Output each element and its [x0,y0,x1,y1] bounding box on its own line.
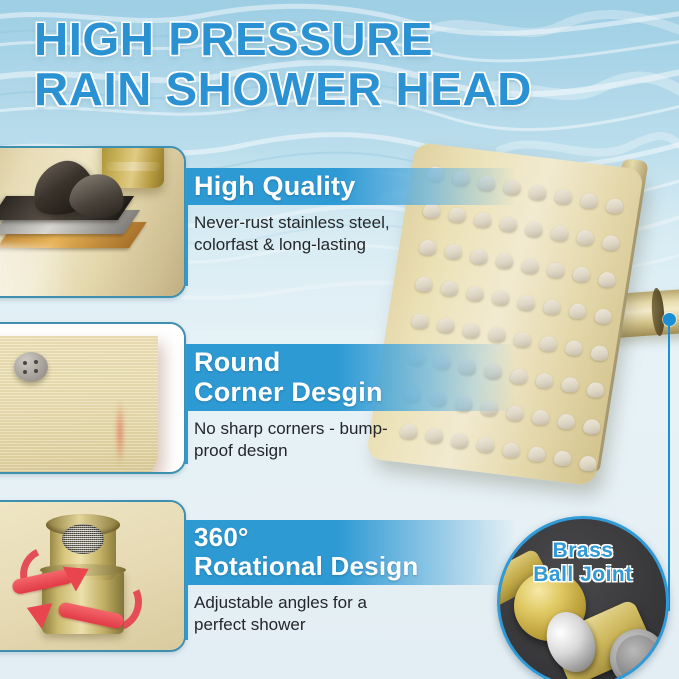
feature-title-bar: Round Corner Desgin [186,344,516,411]
nozzle-jet [582,418,601,435]
callout-leader-line-vertical [668,323,670,611]
nozzle-jet [411,313,430,330]
nozzle-jet [605,197,624,214]
nozzle-jet [513,331,532,348]
nozzle-jet [543,299,562,316]
callout-label: Brass Ball Joint [500,539,666,587]
nozzle-jet [466,285,485,302]
feature-block-high-quality: High Quality Never-rust stainless steel,… [186,168,516,256]
nozzle-jet [554,188,573,205]
nozzle-hole [23,361,27,365]
nozzle-jet [601,234,620,251]
filter-mesh [62,524,104,554]
corner-highlight-glow [114,384,174,474]
feature-description: Adjustable angles for a perfect shower [186,592,516,636]
feature-description: No sharp corners - bump- proof design [186,418,516,462]
nozzle-jet [531,409,550,426]
nozzle-jet [580,193,599,210]
nozzle-jet [517,294,536,311]
feature-title: High Quality [194,171,510,201]
feature-thumbnail-rotational [0,500,186,652]
feature-title: 360° Rotational Design [194,523,510,581]
nozzle-jet [550,225,569,242]
nozzle-jet [521,257,540,274]
nozzle-hole [34,369,38,373]
nozzle-jet [440,281,459,298]
feature-thumbnail-high-quality [0,146,186,298]
nozzle-jet [553,450,572,467]
feature-title-bar: High Quality [186,168,516,205]
page-title: HIGH PRESSURE RAIN SHOWER HEAD [34,14,673,114]
chrome-disc-secondary [610,629,666,679]
feature-block-round-corner: Round Corner Desgin No sharp corners - b… [186,344,516,462]
feature-description: Never-rust stainless steel, colorfast & … [186,212,516,256]
nozzle-jet [491,290,510,307]
nozzle-hole [34,360,38,364]
nozzle-jet [525,221,544,238]
nozzle-jet [436,317,455,334]
nozzle-jet [488,326,507,343]
nozzle-jet [590,345,609,362]
rounded-corner-photo [0,324,184,472]
ball-joint-rotation-photo [0,502,184,650]
feature-block-rotational: 360° Rotational Design Adjustable angles… [186,520,516,636]
nozzle-jet [535,372,554,389]
nozzle-jet [586,381,605,398]
nozzle-jet [576,230,595,247]
nozzle-jet [546,262,565,279]
nozzle-jet [528,184,547,201]
nozzle-jet [572,267,591,284]
nozzle-jet [462,322,481,339]
feature-title-bar: 360° Rotational Design [186,520,516,585]
nozzle-jet [568,303,587,320]
nozzle-jet [594,308,613,325]
nozzle-jet [557,414,576,431]
infographic-canvas: HIGH PRESSURE RAIN SHOWER HEAD [0,0,679,679]
light-sheen [0,244,74,298]
nozzle-jet [564,340,583,357]
stainless-steel-layers-photo [0,148,184,296]
spray-nozzle [14,352,48,382]
feature-title: Round Corner Desgin [194,347,510,407]
nozzle-jet [598,271,617,288]
nozzle-jet [579,455,598,472]
nozzle-jet [527,446,546,463]
nozzle-hole [23,370,27,374]
nozzle-jet [415,276,434,293]
nozzle-jet [539,336,558,353]
feature-thumbnail-round-corner [0,322,186,474]
nozzle-jet [561,377,580,394]
brass-ball-joint-callout: Brass Ball Joint [497,516,669,679]
